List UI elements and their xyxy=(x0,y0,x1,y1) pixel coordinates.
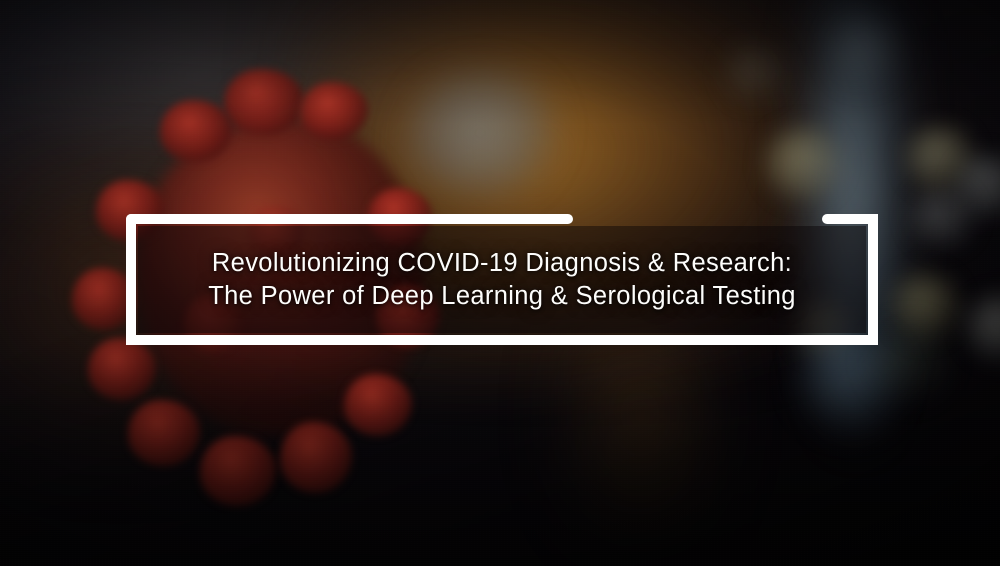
title-line-2: The Power of Deep Learning & Serological… xyxy=(138,280,866,313)
page-title: Revolutionizing COVID-19 Diagnosis & Res… xyxy=(138,247,866,313)
title-slide: Revolutionizing COVID-19 Diagnosis & Res… xyxy=(0,0,1000,566)
title-frame: Revolutionizing COVID-19 Diagnosis & Res… xyxy=(126,214,878,345)
title-line-1: Revolutionizing COVID-19 Diagnosis & Res… xyxy=(138,247,866,280)
